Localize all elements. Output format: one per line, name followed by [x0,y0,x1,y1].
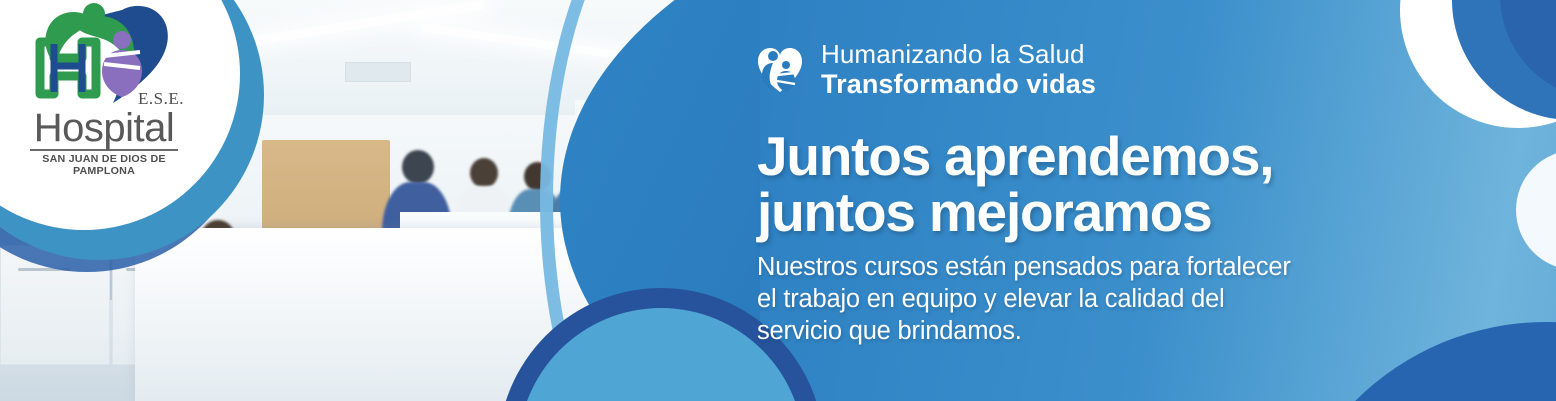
heart-people-icon [757,46,803,94]
hospital-logo[interactable]: E.S.E. Hospital SAN JUAN DE DIOS DE PAMP… [18,2,190,162]
body-copy: Nuestros cursos están pensados para fort… [757,252,1291,348]
hospital-logo-mark: E.S.E. [18,2,190,107]
body-line-2: el trabajo en equipo y elevar la calidad… [757,284,1291,316]
logo-subtitle-text: SAN JUAN DE DIOS DE PAMPLONA [16,153,191,177]
headline-line-2: juntos mejoramos [757,184,1273,240]
course-promo-banner: E.S.E. Hospital SAN JUAN DE DIOS DE PAMP… [0,0,1556,401]
headline: Juntos aprendemos, juntos mejoramos [757,128,1273,240]
logo-hospital-text: Hospital [30,109,179,151]
staff-head [402,150,434,184]
tagline-line-1: Humanizando la Salud [821,40,1096,69]
tagline: Humanizando la Salud Transformando vidas [757,40,1096,99]
tagline-text: Humanizando la Salud Transformando vidas [821,40,1096,99]
body-line-1: Nuestros cursos están pensados para fort… [757,252,1291,284]
logo-hospital-wordmark-wrap: Hospital [18,107,190,151]
staff-head [470,158,498,188]
tagline-line-2: Transformando vidas [821,69,1096,99]
logo-ese-text: E.S.E. [138,89,184,109]
body-line-3: servicio que brindamos. [757,316,1291,348]
headline-line-1: Juntos aprendemos, [757,128,1273,184]
banner-content: Humanizando la Salud Transformando vidas… [757,0,1457,401]
ceiling-vent [345,62,411,82]
